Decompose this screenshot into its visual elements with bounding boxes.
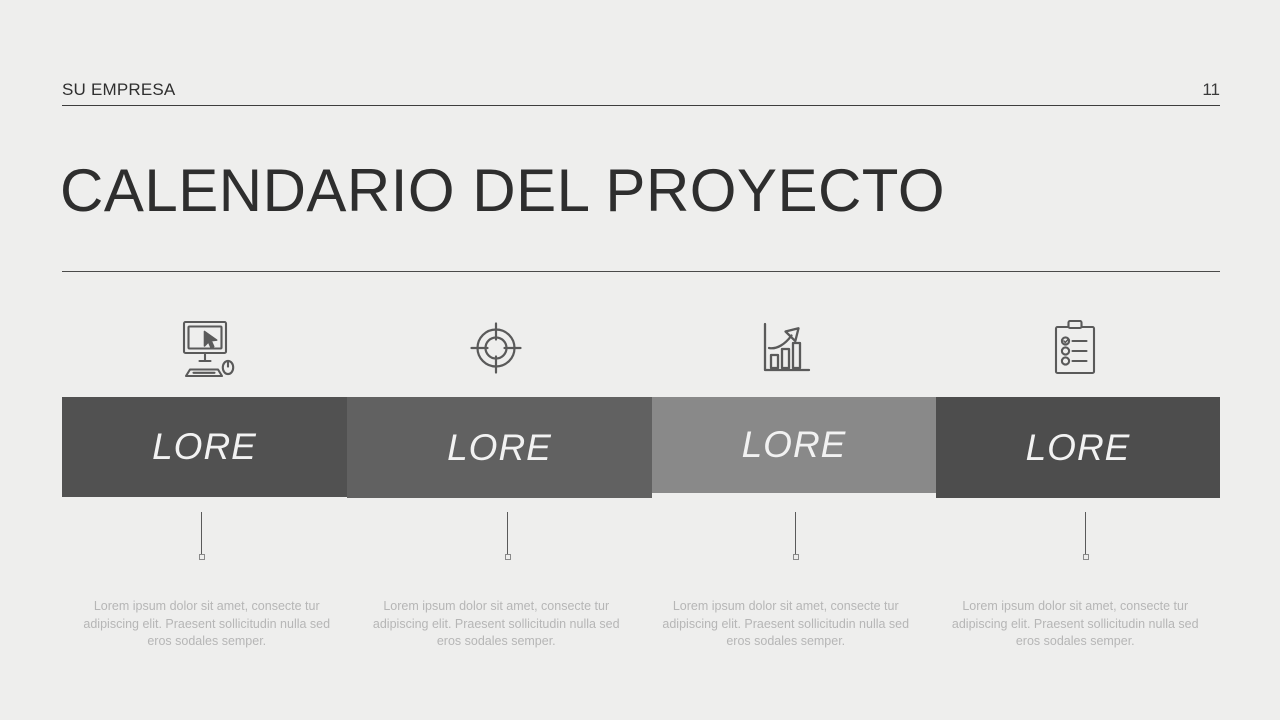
icon-cell-2 — [352, 312, 642, 384]
connector-line-1 — [201, 512, 202, 558]
icon-cell-3 — [641, 312, 931, 384]
clipboard-checklist-icon — [1044, 318, 1106, 378]
slide-header: SU EMPRESA 11 — [62, 80, 1220, 106]
description-text-4: Lorem ipsum dolor sit amet, consecte tur… — [931, 598, 1221, 668]
phase-bar-band: LORE LORE LORE LORE — [62, 397, 1220, 498]
icon-cell-4 — [931, 312, 1221, 384]
phase-bar-3[interactable]: LORE — [652, 397, 936, 493]
bar-chart-growth-arrow-icon — [755, 318, 817, 378]
title-divider — [62, 271, 1220, 272]
page-title: CALENDARIO DEL PROYECTO — [60, 156, 945, 226]
icon-row — [62, 312, 1220, 384]
header-divider — [62, 105, 1220, 106]
desktop-computer-cursor-icon — [176, 318, 238, 378]
company-name: SU EMPRESA — [62, 80, 175, 100]
phase-bar-4[interactable]: LORE — [936, 397, 1220, 498]
phase-bar-label-3: LORE — [742, 424, 847, 466]
description-row: Lorem ipsum dolor sit amet, consecte tur… — [62, 598, 1220, 668]
page-number: 11 — [1202, 80, 1220, 100]
connector-line-4 — [1085, 512, 1086, 558]
icon-cell-1 — [62, 312, 352, 384]
description-text-1: Lorem ipsum dolor sit amet, consecte tur… — [62, 598, 352, 668]
target-crosshair-icon — [465, 318, 527, 378]
phase-bar-label-1: LORE — [152, 426, 257, 468]
description-text-2: Lorem ipsum dolor sit amet, consecte tur… — [352, 598, 642, 668]
phase-bar-label-4: LORE — [1026, 427, 1131, 469]
connector-row — [62, 512, 1220, 560]
phase-bar-label-2: LORE — [447, 427, 552, 469]
phase-bar-1[interactable]: LORE — [62, 397, 347, 497]
connector-line-3 — [795, 512, 796, 558]
connector-line-2 — [507, 512, 508, 558]
description-text-3: Lorem ipsum dolor sit amet, consecte tur… — [641, 598, 931, 668]
phase-bar-2[interactable]: LORE — [347, 397, 652, 498]
